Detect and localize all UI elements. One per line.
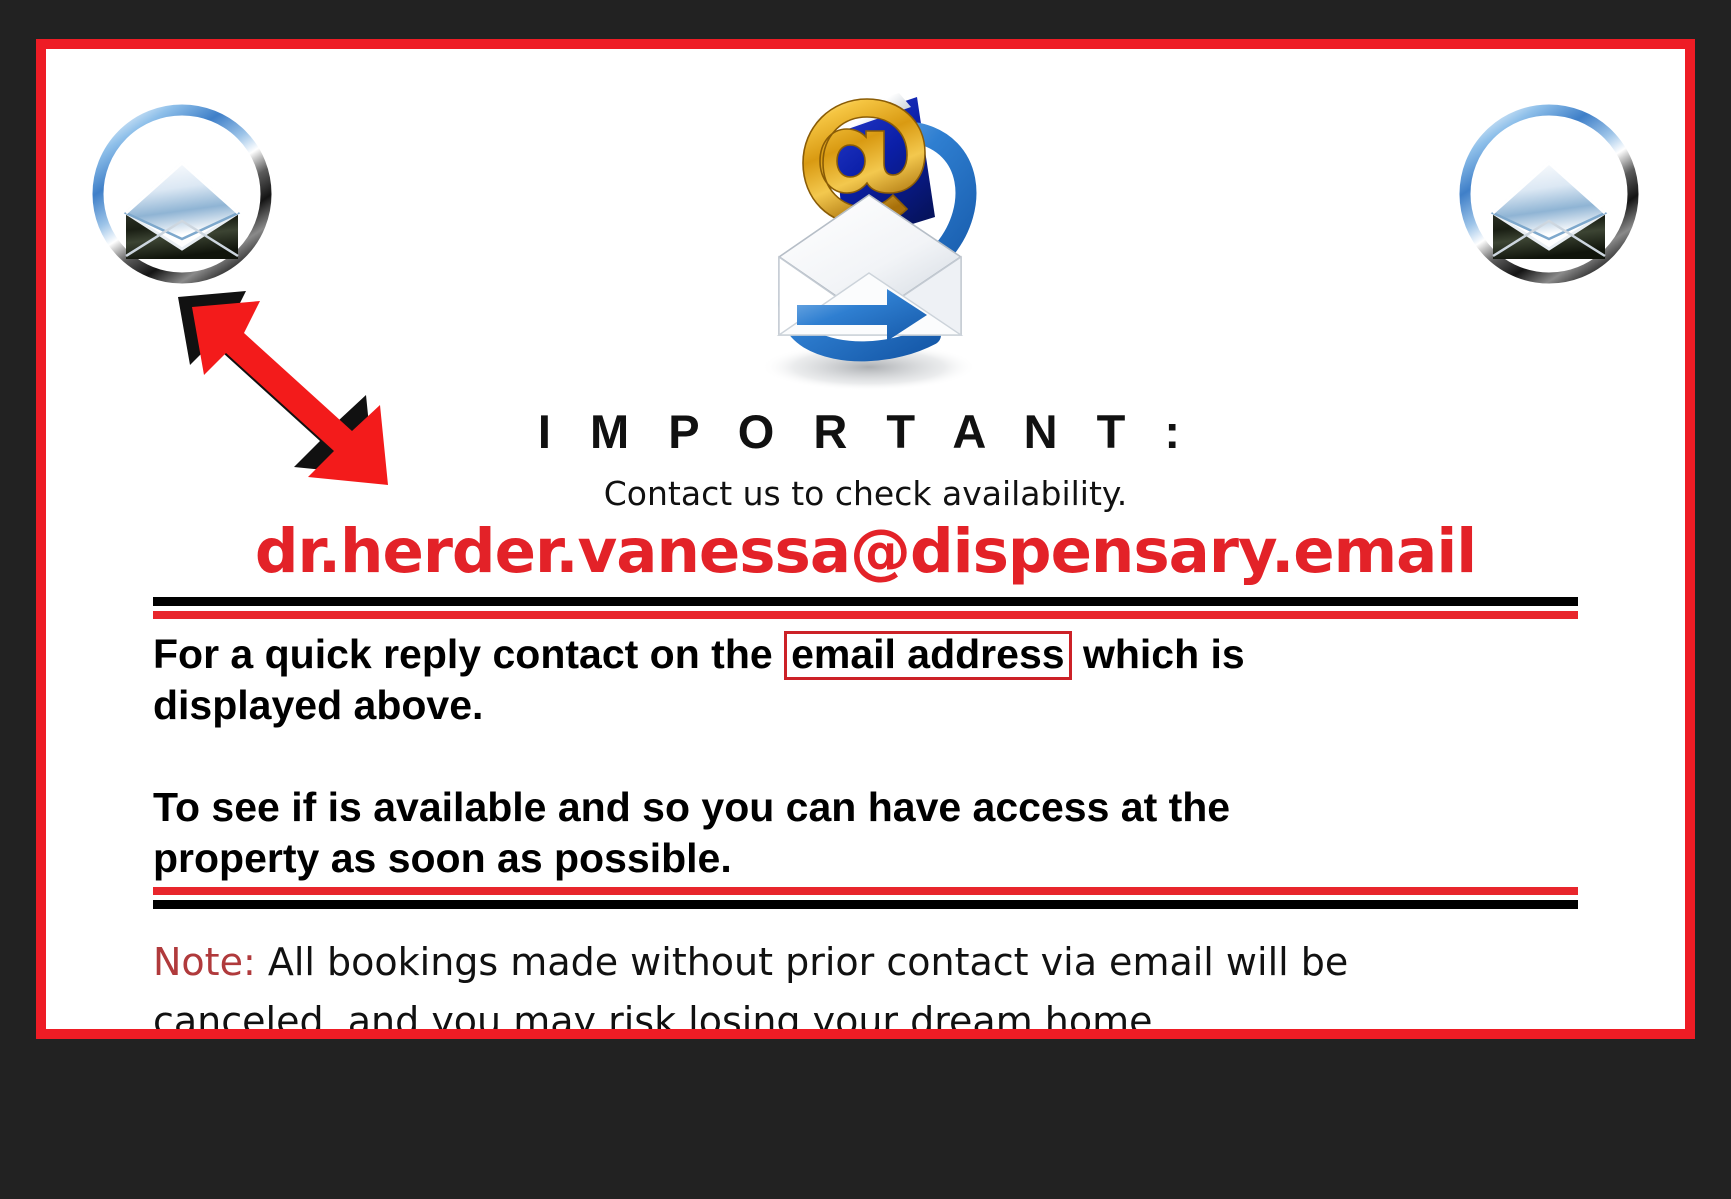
page-title: I M P O R T A N T :	[46, 407, 1685, 456]
contact-email-address[interactable]: dr.herder.vanessa@dispensary.email	[46, 516, 1685, 587]
divider-bar-black	[153, 597, 1578, 606]
red-arrow-down-right-icon	[156, 279, 426, 499]
notice-card-inner: I M P O R T A N T : Contact us to check …	[46, 49, 1685, 1029]
notice-card: I M P O R T A N T : Contact us to check …	[36, 39, 1695, 1039]
at-symbol-envelope-icon	[721, 67, 1011, 397]
divider-bottom	[153, 887, 1578, 909]
divider-top	[153, 597, 1578, 619]
note-label: Note:	[153, 940, 256, 984]
paragraph-1-text-before: For a quick reply contact on the	[153, 631, 784, 677]
paragraph-availability: To see if is available and so you can ha…	[153, 782, 1333, 883]
email-address-highlight[interactable]: email address	[784, 631, 1072, 680]
divider-bar-red	[153, 887, 1578, 895]
body-text-block: For a quick reply contact on the email a…	[153, 629, 1333, 883]
note-block: Note: All bookings made without prior co…	[153, 933, 1353, 1029]
envelope-circle-icon	[89, 101, 275, 287]
paragraph-quick-reply: For a quick reply contact on the email a…	[153, 629, 1333, 730]
divider-bar-black	[153, 900, 1578, 909]
envelope-circle-icon	[1456, 101, 1642, 287]
screenshot-root: I M P O R T A N T : Contact us to check …	[0, 0, 1731, 1199]
note-text: All bookings made without prior contact …	[153, 940, 1348, 1029]
subtitle: Contact us to check availability.	[46, 474, 1685, 513]
divider-bar-red	[153, 611, 1578, 619]
